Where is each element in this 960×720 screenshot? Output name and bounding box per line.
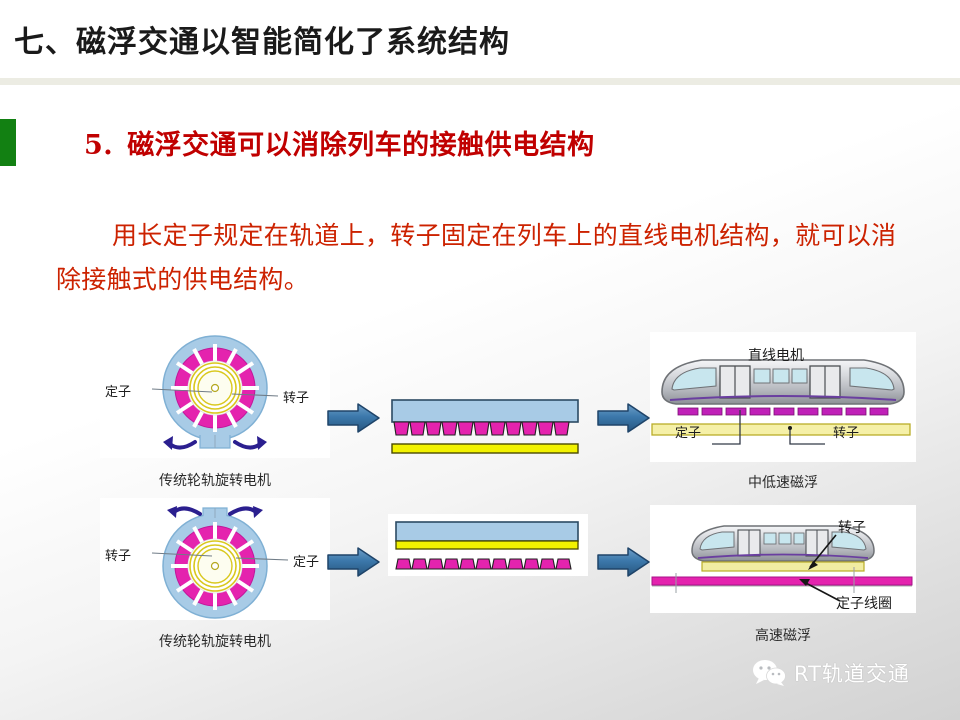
watermark-text: RT轨道交通: [794, 658, 910, 688]
rotary-motor-top-caption: 传统轮轨旋转电机: [100, 470, 330, 490]
maglev-train-top-label-stator: 定子: [675, 422, 701, 441]
right-arrow-icon: [596, 402, 652, 434]
section-number: 5.: [84, 130, 113, 161]
slide-header: 七、磁浮交通以智能简化了系统结构: [0, 0, 960, 78]
wechat-icon: [752, 659, 786, 687]
rotary-motor-bottom-caption: 传统轮轨旋转电机: [100, 631, 330, 651]
maglev-train-bottom-label-rotor: 转子: [838, 517, 866, 537]
right-arrow-icon: [326, 546, 382, 578]
section-marker-bar: [0, 119, 16, 166]
linear-motor-graphic-bottom: [388, 514, 598, 594]
linear-motor-panel-top: [388, 330, 598, 495]
maglev-train-bottom-caption: 高速磁浮: [650, 625, 916, 645]
maglev-train-top-label-linear-motor: 直线电机: [748, 345, 804, 365]
page-title: 七、磁浮交通以智能简化了系统结构: [14, 17, 510, 61]
rotary-motor-panel-bottom: 转子 定子 传统轮轨旋转电机: [100, 498, 330, 663]
maglev-train-top-caption: 中低速磁浮: [650, 472, 916, 492]
right-arrow-icon: [326, 402, 382, 434]
maglev-train-panel-top: 定子 转子 直线电机 中低速磁浮: [650, 330, 920, 495]
linear-motor-panel-bottom: [388, 498, 598, 663]
arrow-top-1: [326, 402, 382, 434]
diagram-row-top: 定子 转子 传统轮轨旋转电机: [0, 330, 960, 495]
slide-root: 七、磁浮交通以智能简化了系统结构 5.磁浮交通可以消除列车的接触供电结构 用长定…: [0, 0, 960, 720]
arrow-top-2: [596, 402, 652, 434]
rotary-motor-top-label-stator: 定子: [105, 381, 131, 400]
arrow-bottom-2: [596, 546, 652, 578]
body-paragraph: 用长定子规定在轨道上，转子固定在列车上的直线电机结构，就可以消除接触式的供电结构…: [56, 214, 908, 302]
rotary-motor-bottom-label-stator: 定子: [293, 551, 319, 570]
section-heading: 5.磁浮交通可以消除列车的接触供电结构: [84, 123, 595, 162]
maglev-train-top-label-rotor: 转子: [833, 422, 859, 441]
header-divider: [0, 78, 960, 85]
maglev-train-panel-bottom: 转子 定子线圈 高速磁浮: [650, 498, 920, 663]
linear-motor-graphic-top: [388, 398, 598, 478]
diagram-row-bottom: 转子 定子 传统轮轨旋转电机: [0, 498, 960, 663]
right-arrow-icon: [596, 546, 652, 578]
watermark: RT轨道交通: [752, 658, 910, 688]
maglev-train-bottom-label-stator-coil: 定子线圈: [836, 593, 892, 613]
rotary-motor-panel-top: 定子 转子 传统轮轨旋转电机: [100, 330, 330, 495]
section-heading-text: 磁浮交通可以消除列车的接触供电结构: [127, 130, 595, 161]
rotary-motor-top-label-rotor: 转子: [283, 387, 309, 406]
arrow-bottom-1: [326, 546, 382, 578]
rotary-motor-bottom-label-rotor: 转子: [105, 545, 131, 564]
diagram-area: 定子 转子 传统轮轨旋转电机: [0, 330, 960, 660]
